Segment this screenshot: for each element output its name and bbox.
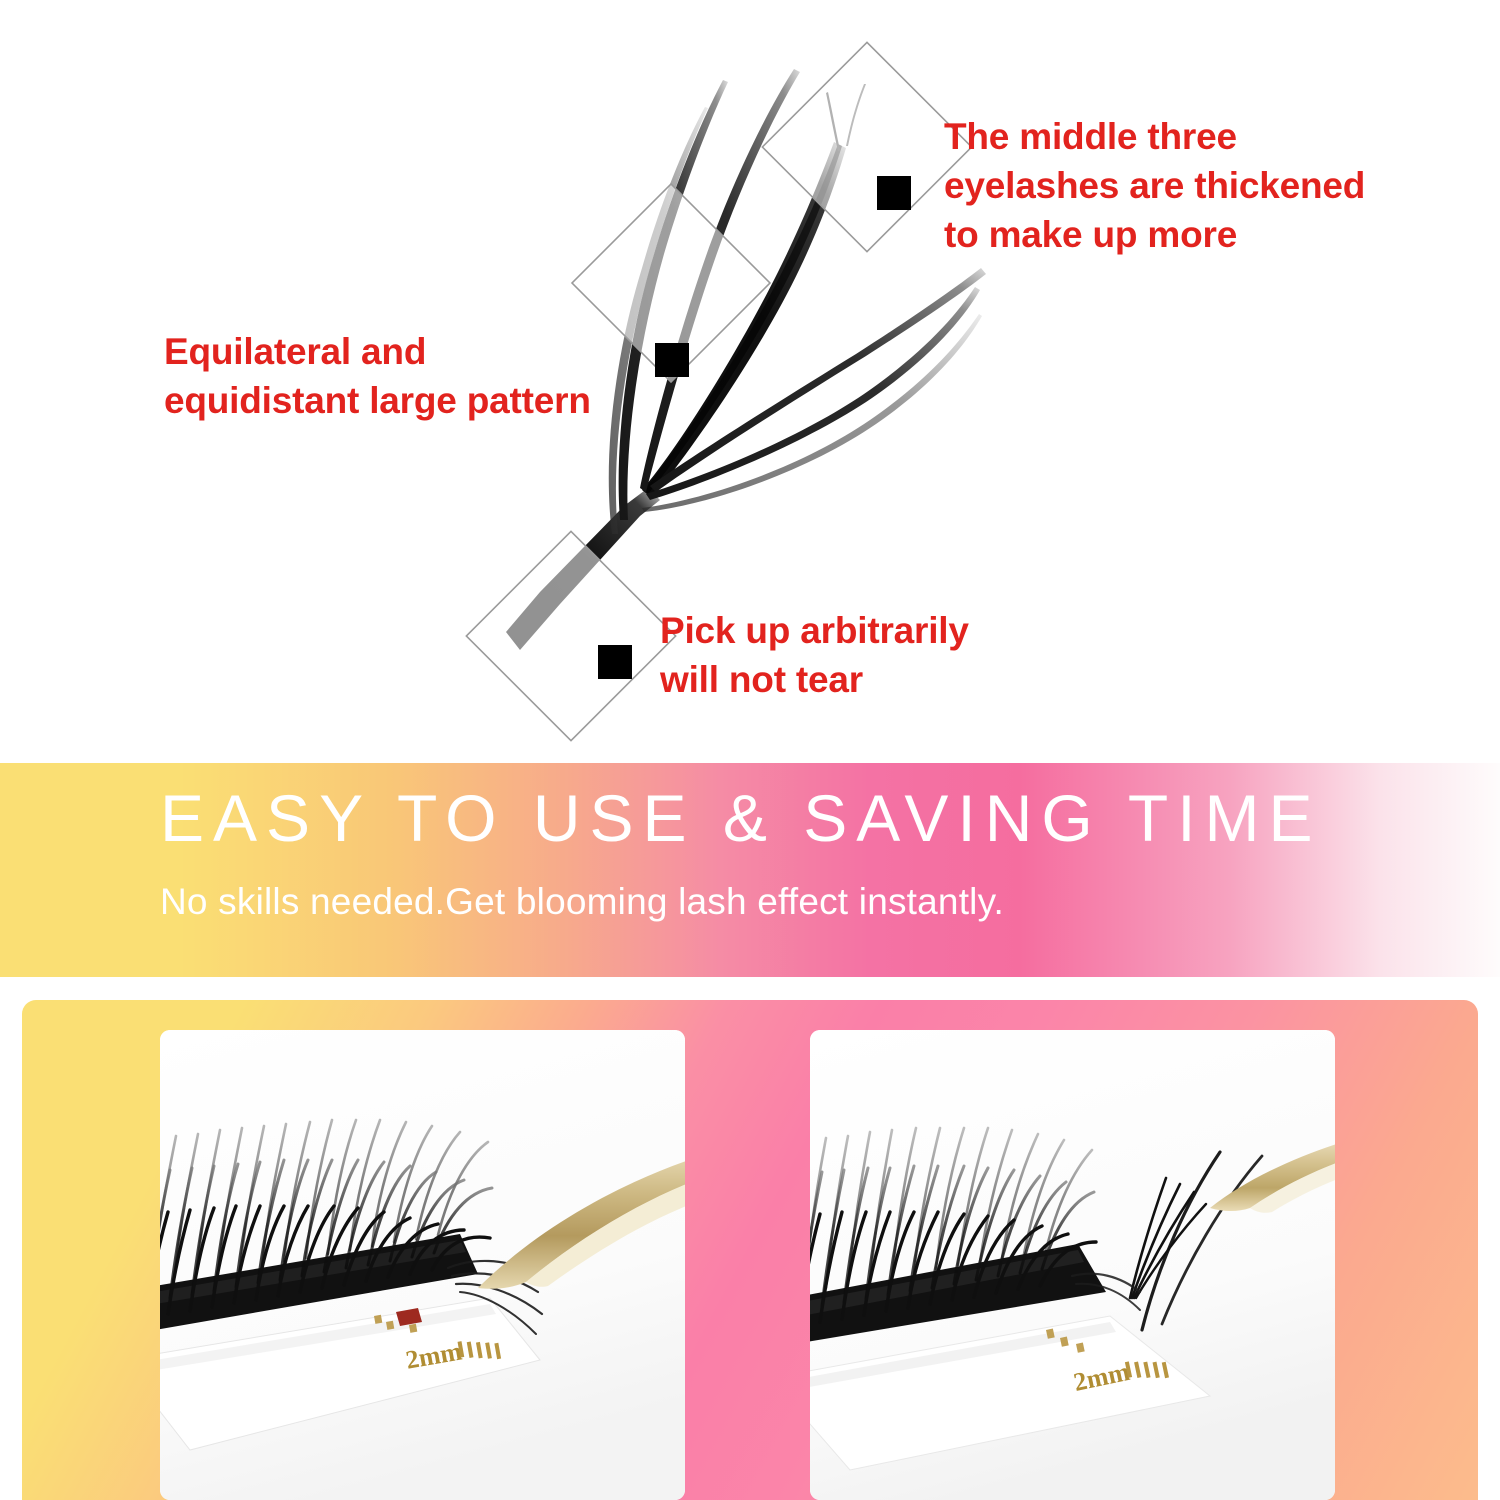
photo-panel: 2mm <box>22 1000 1478 1500</box>
photo-card-right: 2mm <box>810 1030 1335 1500</box>
callout-equilateral: Equilateral and equidistant large patter… <box>164 327 591 425</box>
photo-card-left: 2mm <box>160 1030 685 1500</box>
diamond-marker-pick-up <box>466 531 675 740</box>
lash-tray-photo-left: 2mm <box>160 1030 685 1500</box>
callout-middle-three: The middle three eyelashes are thickened… <box>944 112 1365 260</box>
diamond-dot-middle-three <box>877 176 911 210</box>
banner-headline: EASY TO USE & SAVING TIME <box>160 785 1322 851</box>
banner-subtitle: No skills needed.Get blooming lash effec… <box>160 883 1004 920</box>
callout-pick-up: Pick up arbitrarily will not tear <box>660 606 969 704</box>
diamond-dot-pick-up <box>598 645 632 679</box>
promo-banner: EASY TO USE & SAVING TIME No skills need… <box>0 763 1500 977</box>
lash-tray-photo-right: 2mm <box>810 1030 1335 1500</box>
lash-diagram-section: The middle three eyelashes are thickened… <box>0 0 1500 763</box>
diamond-dot-equilateral <box>655 343 689 377</box>
